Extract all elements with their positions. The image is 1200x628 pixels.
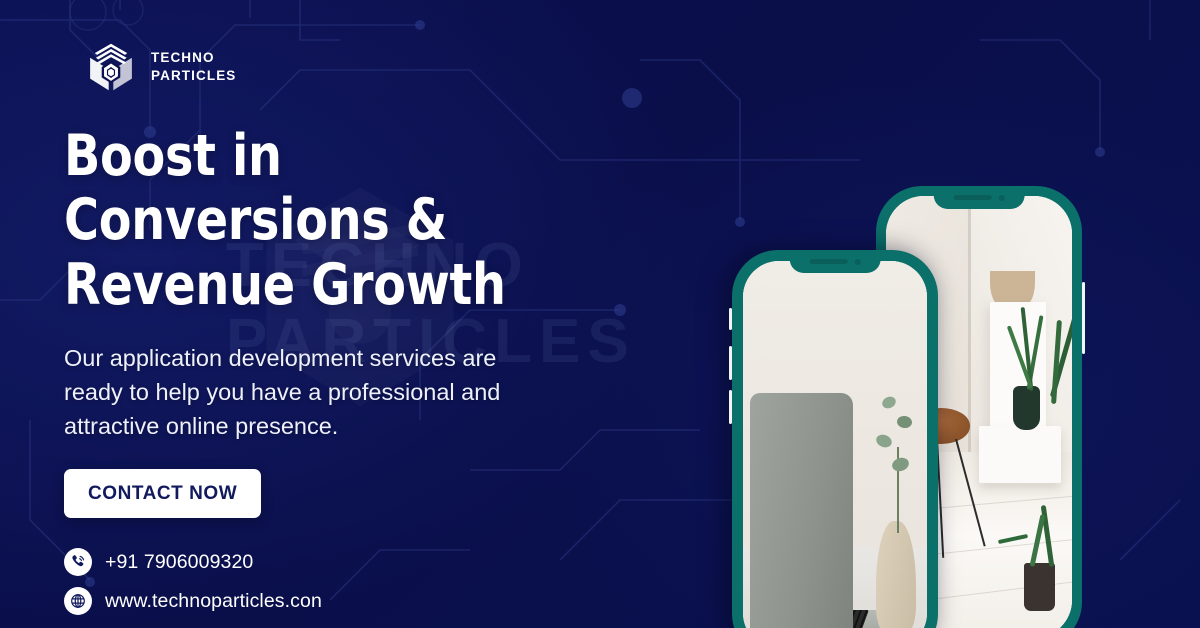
mute-switch-front[interactable] xyxy=(729,308,732,330)
contact-row-website[interactable]: www.technoparticles.con xyxy=(64,587,664,615)
volume-up-button-front[interactable] xyxy=(729,346,732,380)
hero-copy-block: Boost in Conversions & Revenue Growth Ou… xyxy=(64,124,664,626)
brand-logo[interactable]: TECHNO PARTICLES xyxy=(82,38,236,96)
contact-now-button[interactable]: CONTACT NOW xyxy=(64,469,261,518)
phone-notch-front xyxy=(790,250,881,273)
logo-line-techno: TECHNO xyxy=(151,49,236,67)
volume-down-button-front[interactable] xyxy=(729,390,732,424)
cube-logo-icon xyxy=(82,38,140,96)
speaker-slot-icon xyxy=(954,195,992,200)
contact-row-phone[interactable]: +91 7906009320 xyxy=(64,548,664,576)
hero-subheadline: Our application development services are… xyxy=(64,341,589,443)
logo-wordmark: TECHNO PARTICLES xyxy=(151,49,236,85)
phone-notch-back xyxy=(934,186,1025,209)
phone-icon xyxy=(64,548,92,576)
phone-mockups-group xyxy=(680,0,1200,628)
website-url-text: www.technoparticles.con xyxy=(105,590,322,613)
contact-info-list: +91 7906009320 www.technoparticles.con xyxy=(64,548,664,615)
phone-mockup-front xyxy=(732,250,938,628)
desk-workspace-photo xyxy=(743,261,927,628)
globe-icon xyxy=(64,587,92,615)
promotional-banner: TECHNO PARTICLES xyxy=(0,0,1200,628)
page-title: Boost in Conversions & Revenue Growth xyxy=(64,124,622,317)
phone-screen-front xyxy=(743,261,927,628)
logo-line-particles: PARTICLES xyxy=(151,67,236,85)
front-camera-icon xyxy=(999,195,1005,201)
phone-number-text: +91 7906009320 xyxy=(105,551,253,574)
front-camera-icon xyxy=(855,259,861,265)
speaker-slot-icon xyxy=(810,259,848,264)
power-button-back[interactable] xyxy=(1082,282,1085,354)
